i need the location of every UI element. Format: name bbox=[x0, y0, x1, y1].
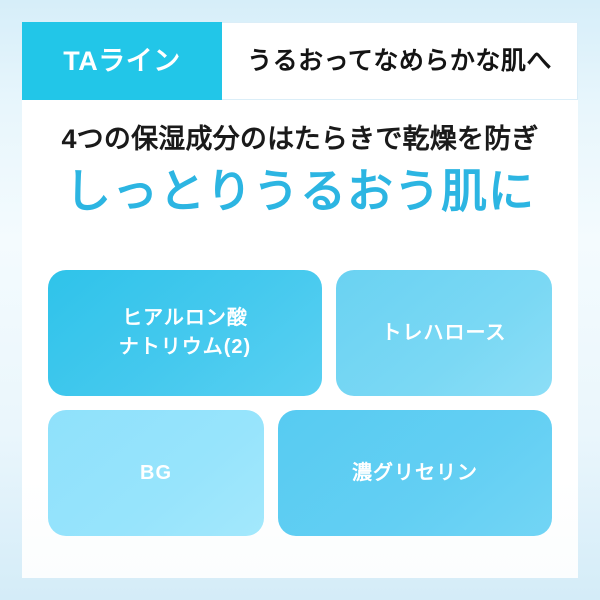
ingredient-card-row-bottom: BG 濃グリセリン bbox=[48, 410, 552, 536]
product-line-badge-label: TAライン bbox=[63, 48, 181, 75]
ingredient-card-row-top: ヒアルロン酸 ナトリウム(2) トレハロース bbox=[48, 270, 552, 396]
ingredient-card-trehalose: トレハロース bbox=[336, 270, 552, 396]
ingredient-card-label: ヒアルロン酸 ナトリウム(2) bbox=[119, 304, 251, 362]
ingredient-card-concentrated-glycerin: 濃グリセリン bbox=[278, 410, 552, 536]
ingredient-card-hyaluronic-acid-sodium: ヒアルロン酸 ナトリウム(2) bbox=[48, 270, 322, 396]
product-line-badge: TAライン bbox=[22, 22, 222, 100]
promo-poster: TAライン うるおってなめらかな肌へ 4つの保湿成分のはたらきで乾燥を防ぎ しっ… bbox=[0, 0, 600, 600]
headline-subtitle: 4つの保湿成分のはたらきで乾燥を防ぎ bbox=[22, 124, 578, 156]
ingredient-card-label: BG bbox=[140, 459, 172, 488]
header-tagline-label: うるおってなめらかな肌へ bbox=[247, 49, 552, 74]
headline-block: 4つの保湿成分のはたらきで乾燥を防ぎ しっとりうるおう肌に bbox=[22, 124, 578, 217]
ingredient-card-label: トレハロース bbox=[382, 319, 507, 348]
headline-title: しっとりうるおう肌に bbox=[22, 166, 578, 218]
header: TAライン うるおってなめらかな肌へ bbox=[22, 22, 578, 100]
header-tagline: うるおってなめらかな肌へ bbox=[222, 22, 578, 100]
ingredient-card-grid: ヒアルロン酸 ナトリウム(2) トレハロース BG 濃グリセリン bbox=[48, 270, 552, 536]
ingredient-card-bg: BG bbox=[48, 410, 264, 536]
ingredient-card-label: 濃グリセリン bbox=[352, 459, 478, 488]
